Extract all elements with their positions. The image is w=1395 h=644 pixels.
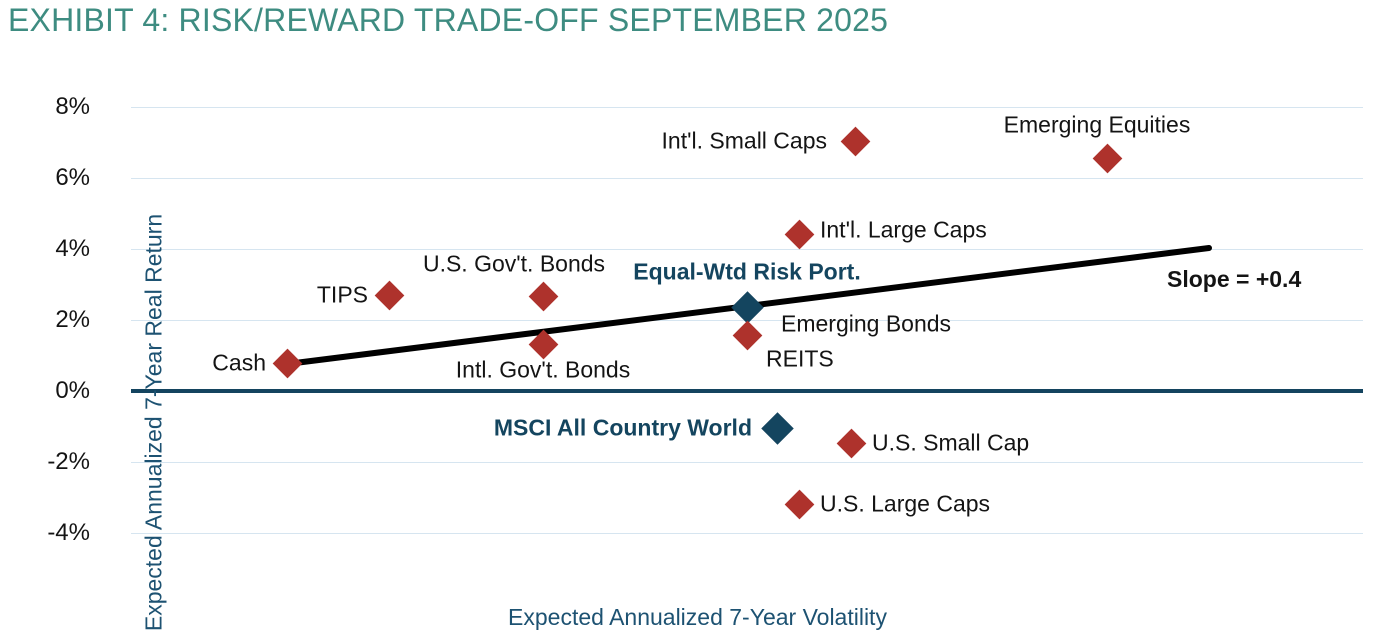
y-tick-label: -4% [20,519,90,547]
data-point-label: Cash [212,350,266,377]
data-point-label: Int'l. Small Caps [662,128,827,155]
gridline-zero [131,389,1363,393]
page-title: EXHIBIT 4: RISK/REWARD TRADE-OFF SEPTEMB… [8,2,888,39]
y-tick-label: 2% [20,306,90,334]
data-point-label: TIPS [317,282,368,309]
y-tick-label: 6% [20,164,90,192]
data-point-label: Equal-Wtd Risk Port. [633,259,860,286]
y-axis-title: Expected Annualized 7-Year Real Return [141,143,168,644]
y-tick-label: 8% [20,93,90,121]
gridline-6 [131,178,1363,179]
data-point-label: MSCI All Country World [494,415,752,442]
gridline-neg4 [131,533,1363,534]
data-point-label: U.S. Gov't. Bonds [423,251,605,278]
y-tick-label: 0% [20,377,90,405]
data-point-label: U.S. Small Cap [872,430,1029,457]
data-point-label: Emerging Equities [1004,112,1191,139]
data-point-label: Intl. Gov't. Bonds [456,357,630,384]
gridline-8 [131,107,1363,108]
y-tick-label: 4% [20,235,90,263]
data-point-label: Emerging Bonds [781,311,951,338]
data-point-label: Int'l. Large Caps [820,217,987,244]
gridline-neg2 [131,462,1363,463]
data-point-label: U.S. Large Caps [820,491,990,518]
y-tick-label: -2% [20,448,90,476]
x-axis-title: Expected Annualized 7-Year Volatility [0,604,1395,631]
gridline-4 [131,249,1363,250]
slope-annotation: Slope = +0.4 [1167,266,1301,293]
data-point-label: REITS [766,346,834,373]
chart-container: EXHIBIT 4: RISK/REWARD TRADE-OFF SEPTEMB… [0,0,1395,644]
